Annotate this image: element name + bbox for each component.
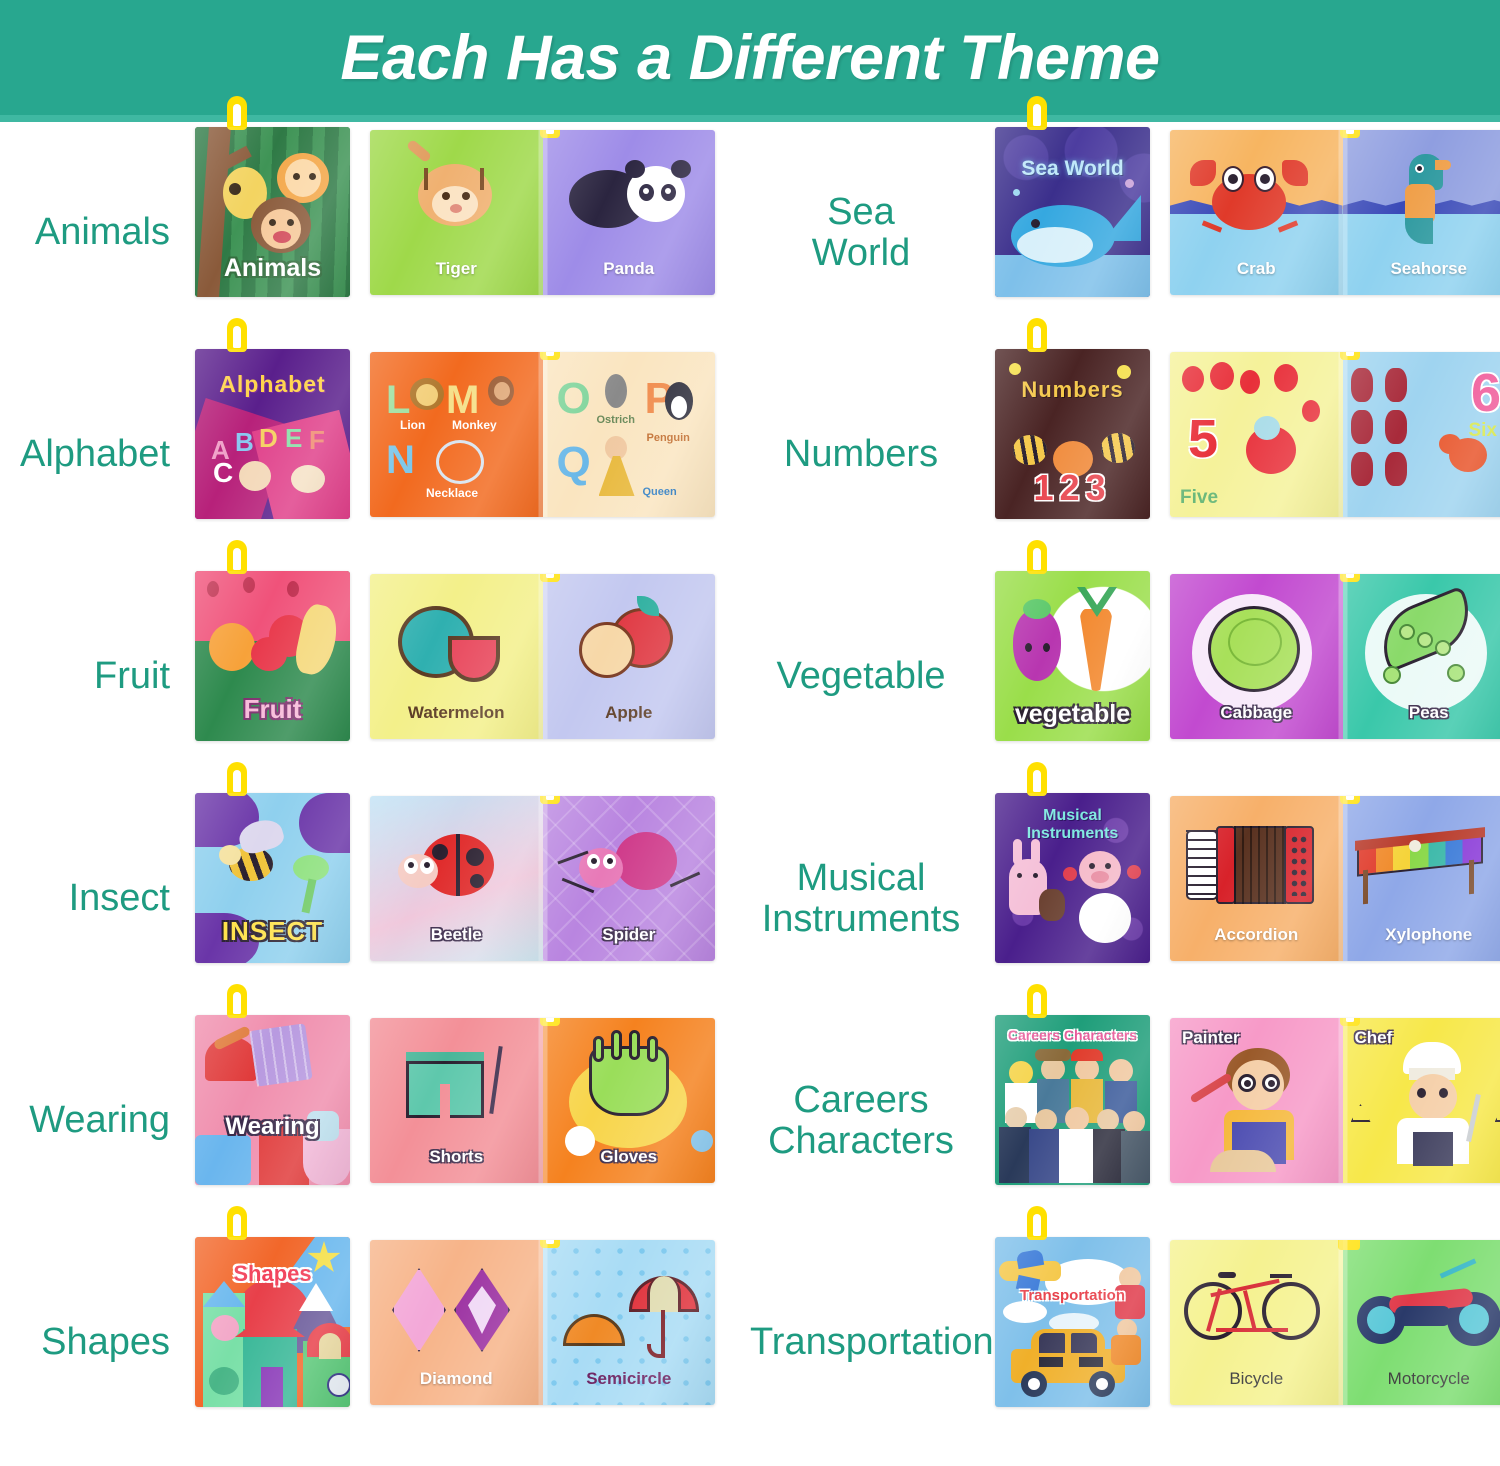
hanging-loop-icon xyxy=(227,540,247,574)
book-photo-numbers[interactable]: Numbers 123 5 xyxy=(980,344,1500,566)
book-photo-sea-world[interactable]: Sea World Crab xyxy=(980,122,1500,344)
cover-title: Wearing xyxy=(195,1113,350,1141)
theme-row-transportation: Transportation Transportation xyxy=(750,1232,1500,1454)
book-spread-fruit: Watermelon Apple xyxy=(370,574,715,739)
theme-label-musical-instruments: Musical Instruments xyxy=(750,858,980,940)
page-caption: Six xyxy=(1468,420,1497,442)
book-cover-careers-characters: Careers Characters xyxy=(995,1015,1150,1185)
book-photo-musical-instruments[interactable]: Musical Instruments xyxy=(980,788,1500,1010)
book-spine xyxy=(538,352,547,517)
book-page-apple: Apple xyxy=(543,574,716,739)
book-photo-alphabet[interactable]: Alphabet A B D E F C L M xyxy=(180,344,750,566)
header-banner: Each Has a Different Theme xyxy=(0,0,1500,115)
cover-title: Fruit xyxy=(195,694,350,725)
book-page-xylophone: Xylophone xyxy=(1343,796,1500,961)
page-caption: Watermelon xyxy=(370,703,543,723)
book-page-opq: O Ostrich P Penguin Q Queen xyxy=(543,352,716,517)
page-caption: Tiger xyxy=(370,259,543,279)
book-spread-transportation: Bicycle Motorcycle xyxy=(1170,1240,1500,1405)
page-caption: Painter xyxy=(1182,1028,1240,1048)
theme-row-numbers: Numbers Numbers 123 xyxy=(750,344,1500,566)
page-caption: Diamond xyxy=(370,1369,543,1389)
theme-label-careers-characters: Careers Characters xyxy=(750,1080,980,1162)
hanging-loop-icon xyxy=(1027,318,1047,352)
theme-row-musical-instruments: Musical Instruments Musical Instruments xyxy=(750,788,1500,1010)
book-cover-vegetable: vegetable xyxy=(995,571,1150,741)
book-photo-shapes[interactable]: Shapes Diamond xyxy=(180,1232,750,1454)
book-page-lmn: L M Lion Monkey N Necklace xyxy=(370,352,543,517)
hanging-loop-icon xyxy=(227,984,247,1018)
book-spread-sea-world: Crab Seahorse xyxy=(1170,130,1500,295)
hanging-loop-icon xyxy=(227,1206,247,1240)
theme-label-vegetable: Vegetable xyxy=(750,656,980,697)
book-spread-insect: Beetle Spider xyxy=(370,796,715,961)
cover-title: Animals xyxy=(195,254,350,283)
cover-title: Musical Instruments xyxy=(995,807,1150,844)
page-digit: 5 xyxy=(1188,408,1218,470)
page-caption: Shorts xyxy=(370,1147,543,1167)
cover-title: Sea World xyxy=(995,157,1150,181)
page-caption: Gloves xyxy=(543,1147,716,1167)
page-word: Ostrich xyxy=(597,414,636,426)
cover-title: INSECT xyxy=(195,916,350,947)
page-word: Queen xyxy=(643,486,677,498)
theme-label-insect: Insect xyxy=(0,878,180,919)
book-photo-vegetable[interactable]: vegetable Cabbage xyxy=(980,566,1500,788)
book-photo-transportation[interactable]: Transportation xyxy=(980,1232,1500,1454)
cover-title: Alphabet xyxy=(195,371,350,398)
theme-label-numbers: Numbers xyxy=(750,434,980,475)
theme-label-fruit: Fruit xyxy=(0,656,180,697)
book-page-six: 6 Six xyxy=(1343,352,1500,517)
book-spread-numbers: 5 Five 6 Six xyxy=(1170,352,1500,517)
theme-grid: Animals xyxy=(0,122,1500,1466)
book-cover-sea-world: Sea World xyxy=(995,127,1150,297)
theme-row-alphabet: Alphabet Alphabet A B D E F C xyxy=(0,344,750,566)
theme-label-shapes: Shapes xyxy=(0,1322,180,1363)
page-title: Each Has a Different Theme xyxy=(340,22,1159,94)
book-page-chef: Chef xyxy=(1343,1018,1500,1183)
book-spread-careers-characters: Painter Chef xyxy=(1170,1018,1500,1183)
theme-row-vegetable: Vegetable vegetable xyxy=(750,566,1500,788)
left-column: Animals xyxy=(0,122,750,1466)
book-photo-insect[interactable]: INSECT Beetle xyxy=(180,788,750,1010)
hanging-loop-icon xyxy=(1027,762,1047,796)
theme-label-transportation: Transportation xyxy=(750,1322,980,1363)
page-word: Penguin xyxy=(647,432,690,444)
book-page-gloves: Gloves xyxy=(543,1018,716,1183)
book-cover-shapes: Shapes xyxy=(195,1237,350,1407)
book-photo-fruit[interactable]: Fruit Watermelon Apple xyxy=(180,566,750,788)
book-spread-alphabet: L M Lion Monkey N Necklace O xyxy=(370,352,715,517)
page-word: Monkey xyxy=(452,418,497,432)
page-caption: Bicycle xyxy=(1170,1369,1343,1389)
cover-title: vegetable xyxy=(995,700,1150,729)
book-spine xyxy=(1338,1018,1347,1183)
book-page-accordion: Accordion xyxy=(1170,796,1343,961)
page-digit: 6 xyxy=(1471,362,1500,424)
page-caption: Motorcycle xyxy=(1343,1369,1500,1389)
page-caption: Spider xyxy=(543,925,716,945)
book-cover-numbers: Numbers 123 xyxy=(995,349,1150,519)
page-caption: Cabbage xyxy=(1170,703,1343,723)
page-caption: Peas xyxy=(1343,703,1500,723)
theme-row-fruit: Fruit Fruit xyxy=(0,566,750,788)
header-divider xyxy=(0,115,1500,122)
book-cover-transportation: Transportation xyxy=(995,1237,1150,1407)
hanging-loop-icon xyxy=(227,318,247,352)
cover-digits: 123 xyxy=(995,467,1150,509)
page-word: Lion xyxy=(400,418,425,432)
book-spread-animals: Tiger Panda xyxy=(370,130,715,295)
book-photo-wearing[interactable]: Wearing Shorts xyxy=(180,1010,750,1232)
theme-label-alphabet: Alphabet xyxy=(0,434,180,475)
page-caption: Chef xyxy=(1355,1028,1393,1048)
right-column: Sea World Sea World xyxy=(750,122,1500,1466)
book-cover-wearing: Wearing xyxy=(195,1015,350,1185)
book-photo-animals[interactable]: Animals Tiger xyxy=(180,122,750,344)
hanging-loop-icon xyxy=(1027,1206,1047,1240)
book-page-watermelon: Watermelon xyxy=(370,574,543,739)
book-page-seahorse: Seahorse xyxy=(1343,130,1500,295)
page-caption: Beetle xyxy=(370,925,543,945)
page-word: Necklace xyxy=(426,486,478,500)
book-spread-vegetable: Cabbage Peas xyxy=(1170,574,1500,739)
book-page-painter: Painter xyxy=(1170,1018,1343,1183)
theme-row-insect: Insect INSECT xyxy=(0,788,750,1010)
book-page-crab: Crab xyxy=(1170,130,1343,295)
page-caption: Panda xyxy=(543,259,716,279)
book-cover-animals: Animals xyxy=(195,127,350,297)
theme-row-shapes: Shapes xyxy=(0,1232,750,1454)
book-spread-musical-instruments: Accordion Xylophone xyxy=(1170,796,1500,961)
hanging-loop-icon xyxy=(227,96,247,130)
theme-row-sea-world: Sea World Sea World xyxy=(750,122,1500,344)
page-caption: Apple xyxy=(543,703,716,723)
book-page-beetle: Beetle xyxy=(370,796,543,961)
theme-row-animals: Animals xyxy=(0,122,750,344)
page-caption: Seahorse xyxy=(1343,259,1500,279)
page-caption: Accordion xyxy=(1170,925,1343,945)
book-spread-shapes: Diamond Semicircle xyxy=(370,1240,715,1405)
book-page-tiger: Tiger xyxy=(370,130,543,295)
theme-row-wearing: Wearing Wearing xyxy=(0,1010,750,1232)
book-page-bicycle: Bicycle xyxy=(1170,1240,1343,1405)
book-page-spider: Spider xyxy=(543,796,716,961)
hanging-loop-icon xyxy=(227,762,247,796)
book-cover-musical-instruments: Musical Instruments xyxy=(995,793,1150,963)
book-page-cabbage: Cabbage xyxy=(1170,574,1343,739)
theme-label-sea-world: Sea World xyxy=(750,192,980,274)
theme-label-animals: Animals xyxy=(0,212,180,253)
book-spread-wearing: Shorts Gloves xyxy=(370,1018,715,1183)
theme-row-careers-characters: Careers Characters Careers Characters xyxy=(750,1010,1500,1232)
page-caption: Crab xyxy=(1170,259,1343,279)
book-page-five: 5 Five xyxy=(1170,352,1343,517)
book-page-motorcycle: Motorcycle xyxy=(1343,1240,1500,1405)
page-caption: Five xyxy=(1180,487,1218,509)
book-page-semicircle: Semicircle xyxy=(543,1240,716,1405)
page-caption: Xylophone xyxy=(1343,925,1500,945)
book-photo-careers-characters[interactable]: Careers Characters xyxy=(980,1010,1500,1232)
cover-title: Careers Characters xyxy=(995,1027,1150,1043)
hanging-loop-icon xyxy=(1027,96,1047,130)
book-page-panda: Panda xyxy=(543,130,716,295)
cover-title: Transportation xyxy=(995,1287,1150,1304)
book-page-peas: Peas xyxy=(1343,574,1500,739)
book-spine xyxy=(1338,352,1347,517)
book-page-diamond: Diamond xyxy=(370,1240,543,1405)
cover-title: Numbers xyxy=(995,377,1150,403)
hanging-loop-icon xyxy=(1027,984,1047,1018)
cover-title: Shapes xyxy=(195,1261,350,1287)
book-page-shorts: Shorts xyxy=(370,1018,543,1183)
hanging-loop-icon xyxy=(1027,540,1047,574)
theme-label-wearing: Wearing xyxy=(0,1100,180,1141)
book-cover-insect: INSECT xyxy=(195,793,350,963)
book-cover-alphabet: Alphabet A B D E F C xyxy=(195,349,350,519)
page-caption: Semicircle xyxy=(543,1369,716,1389)
book-cover-fruit: Fruit xyxy=(195,571,350,741)
